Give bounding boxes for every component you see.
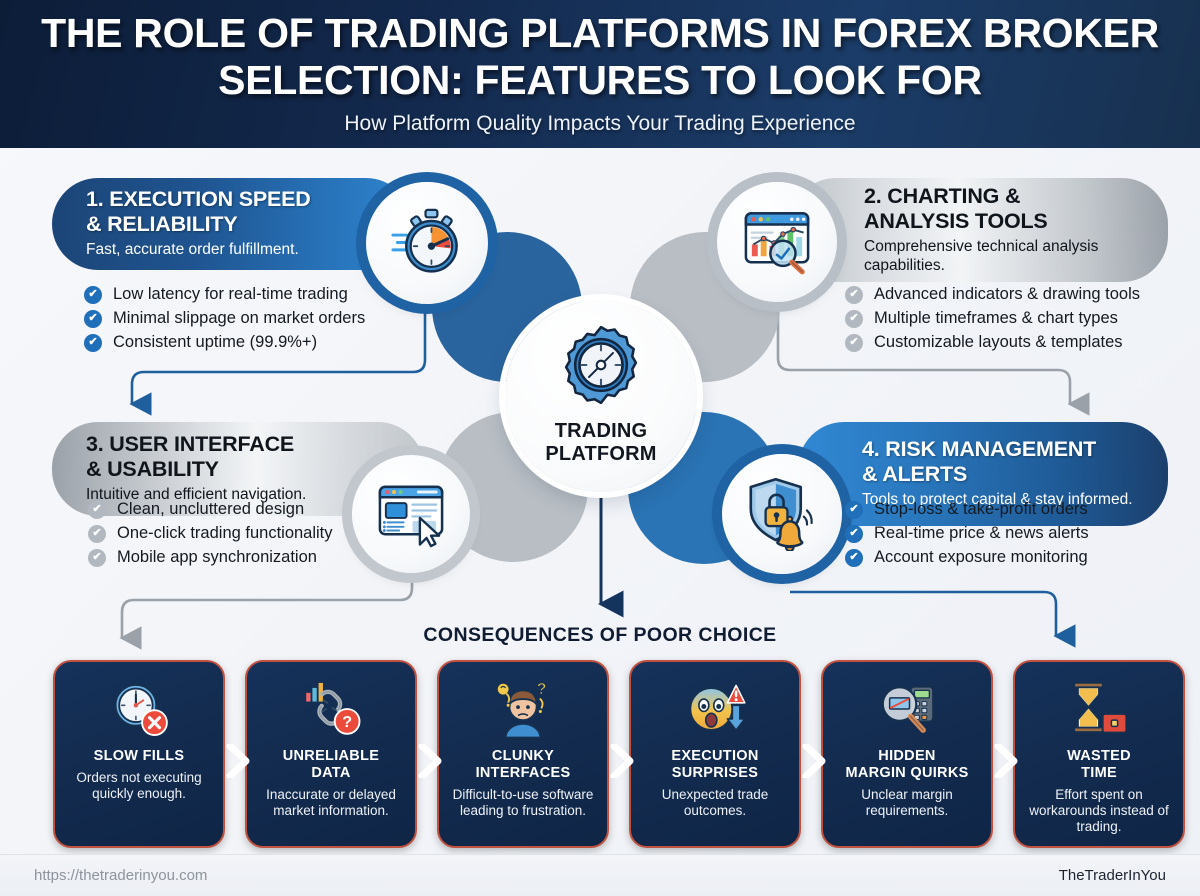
- check-icon: ✔: [84, 310, 102, 328]
- bullet-label: Multiple timeframes & chart types: [874, 309, 1118, 328]
- consequences-row: SLOW FILLS Orders not executing quickly …: [53, 660, 1147, 848]
- consequence-title-line1: HIDDEN: [878, 748, 935, 764]
- bullet-item: ✔ Multiple timeframes & chart types: [845, 309, 1140, 328]
- header-banner: THE ROLE OF TRADING PLATFORMS IN FOREX B…: [0, 0, 1200, 148]
- page-title: THE ROLE OF TRADING PLATFORMS IN FOREX B…: [0, 10, 1200, 104]
- consequence-desc: Unexpected trade outcomes.: [639, 787, 791, 819]
- bullet-label: One-click trading functionality: [117, 524, 333, 543]
- hub-label: TRADING PLATFORM: [545, 420, 656, 466]
- consequence-desc: Unclear margin requirements.: [831, 787, 983, 819]
- page-subtitle: How Platform Quality Impacts Your Tradin…: [0, 112, 1200, 136]
- check-icon: ✔: [88, 525, 106, 543]
- feature-2-title: 2. CHARTING & ANALYSIS TOOLS: [864, 184, 1142, 234]
- consequence-card-3[interactable]: ? CLUNKY INTERFACES Difficult-to-use sof…: [437, 660, 609, 848]
- feature-2-bullets: ✔ Advanced indicators & drawing tools ✔ …: [845, 285, 1140, 357]
- chevron-arrow-2: [418, 744, 444, 778]
- feature-1-icon-circle: [366, 182, 488, 304]
- bullet-label: Clean, uncluttered design: [117, 500, 304, 519]
- bullet-label: Low latency for real-time trading: [113, 285, 348, 304]
- svg-text:?: ?: [537, 680, 547, 698]
- consequence-title: HIDDEN MARGIN QUIRKS: [845, 748, 968, 782]
- bullet-item: ✔ Customizable layouts & templates: [845, 333, 1140, 352]
- consequence-card-5[interactable]: HIDDEN MARGIN QUIRKS Unclear margin requ…: [821, 660, 993, 848]
- chevron-arrow-3: [610, 744, 636, 778]
- feature-3-title-line1: 3. USER INTERFACE: [86, 432, 294, 456]
- feature-card-2[interactable]: 2. CHARTING & ANALYSIS TOOLS Comprehensi…: [790, 178, 1168, 282]
- bullet-label: Minimal slippage on market orders: [113, 309, 365, 328]
- bullet-item: ✔ Minimal slippage on market orders: [84, 309, 365, 328]
- consequence-desc: Orders not executing quickly enough.: [63, 770, 215, 802]
- feature-1-title: 1. EXECUTION SPEED & RELIABILITY: [86, 187, 386, 237]
- feature-4-title: 4. RISK MANAGEMENT & ALERTS: [862, 437, 1142, 487]
- check-icon: ✔: [84, 286, 102, 304]
- bullet-item: ✔ Clean, uncluttered design: [88, 500, 333, 519]
- bullet-item: ✔ Real-time price & news alerts: [845, 524, 1089, 543]
- feature-4-bullets: ✔ Stop-loss & take-profit orders ✔ Real-…: [845, 500, 1089, 572]
- feature-3-bullets: ✔ Clean, uncluttered design ✔ One-click …: [88, 500, 333, 572]
- feature-3-icon-circle: [352, 455, 470, 573]
- consequence-title: UNRELIABLE DATA: [283, 748, 379, 782]
- chevron-arrow-5: [994, 744, 1020, 778]
- consequence-title: WASTED TIME: [1067, 748, 1131, 782]
- consequence-title-line1: CLUNKY: [492, 748, 554, 764]
- bullet-label: Customizable layouts & templates: [874, 333, 1123, 352]
- consequence-title: SLOW FILLS: [94, 748, 185, 765]
- bullet-item: ✔ Account exposure monitoring: [845, 548, 1089, 567]
- feature-4-title-line2: & ALERTS: [862, 462, 967, 486]
- feature-2-subtitle: Comprehensive technical analysis capabil…: [864, 237, 1142, 275]
- footer-url[interactable]: https://thetraderinyou.com: [34, 867, 207, 884]
- browser-cursor-icon: [374, 475, 448, 554]
- bullet-label: Account exposure monitoring: [874, 548, 1088, 567]
- shield-lock-bell-icon: [743, 473, 821, 556]
- check-icon: ✔: [84, 334, 102, 352]
- feature-3-title-line2: & USABILITY: [86, 457, 219, 481]
- consequences-heading: CONSEQUENCES OF POOR CHOICE: [0, 624, 1200, 647]
- check-icon: ✔: [845, 286, 863, 304]
- consequence-card-4[interactable]: EXECUTION SURPRISES Unexpected trade out…: [629, 660, 801, 848]
- feature-2-title-line1: 2. CHARTING &: [864, 184, 1020, 208]
- central-hub[interactable]: TRADING PLATFORM: [505, 300, 697, 492]
- consequence-title-line1: UNRELIABLE: [283, 748, 379, 764]
- bullet-label: Consistent uptime (99.9%+): [113, 333, 317, 352]
- consequence-desc: Effort spent on workarounds instead of t…: [1023, 787, 1175, 835]
- check-icon: ✔: [88, 501, 106, 519]
- chevron-arrow-4: [802, 744, 828, 778]
- consequence-title-line1: EXECUTION: [671, 748, 758, 764]
- shocked-face-warning-icon: [684, 676, 746, 742]
- bullet-label: Real-time price & news alerts: [874, 524, 1089, 543]
- bullet-item: ✔ Advanced indicators & drawing tools: [845, 285, 1140, 304]
- feature-3-title: 3. USER INTERFACE & USABILITY: [86, 432, 398, 482]
- bullet-item: ✔ Stop-loss & take-profit orders: [845, 500, 1089, 519]
- consequence-title-line1: WASTED: [1067, 748, 1131, 764]
- check-icon: ✔: [845, 334, 863, 352]
- feature-4-icon-circle: [722, 454, 842, 574]
- bullet-label: Stop-loss & take-profit orders: [874, 500, 1088, 519]
- svg-text:?: ?: [342, 713, 352, 731]
- bullet-item: ✔ Mobile app synchronization: [88, 548, 333, 567]
- hub-label-line2: PLATFORM: [545, 443, 656, 466]
- bullet-item: ✔ One-click trading functionality: [88, 524, 333, 543]
- bullet-item: ✔ Consistent uptime (99.9%+): [84, 333, 365, 352]
- check-icon: ✔: [88, 549, 106, 567]
- bullet-label: Mobile app synchronization: [117, 548, 317, 567]
- broken-link-question-icon: ?: [300, 676, 362, 742]
- feature-1-subtitle: Fast, accurate order fulfillment.: [86, 240, 386, 259]
- consequence-title-line2: SURPRISES: [672, 765, 759, 781]
- feature-2-title-line2: ANALYSIS TOOLS: [864, 209, 1048, 233]
- chevron-arrow-1: [226, 744, 252, 778]
- consequence-title-line2: DATA: [311, 765, 350, 781]
- hub-label-line1: TRADING: [545, 420, 656, 443]
- consequence-desc: Inaccurate or delayed market information…: [255, 787, 407, 819]
- feature-2-icon-circle: [717, 182, 837, 302]
- feature-1-bullets: ✔ Low latency for real-time trading ✔ Mi…: [84, 285, 365, 357]
- confused-person-icon: ?: [492, 676, 554, 742]
- consequence-desc: Difficult-to-use software leading to fru…: [447, 787, 599, 819]
- stopwatch-icon: [390, 204, 464, 283]
- feature-1-title-line1: 1. EXECUTION SPEED: [86, 187, 311, 211]
- check-icon: ✔: [845, 549, 863, 567]
- feature-4-title-line1: 4. RISK MANAGEMENT: [862, 437, 1096, 461]
- check-icon: ✔: [845, 310, 863, 328]
- bullet-label: Advanced indicators & drawing tools: [874, 285, 1140, 304]
- footer-brand: TheTraderInYou: [1059, 867, 1166, 884]
- compass-gear-icon: [558, 322, 644, 413]
- consequence-title-line2: TIME: [1081, 765, 1117, 781]
- consequence-title-line1: SLOW FILLS: [94, 748, 185, 764]
- consequence-title: EXECUTION SURPRISES: [671, 748, 758, 782]
- chart-magnifier-icon: [740, 203, 814, 282]
- hourglass-toolbox-icon: [1068, 676, 1130, 742]
- consequence-card-6[interactable]: WASTED TIME Effort spent on workarounds …: [1013, 660, 1185, 848]
- infographic-canvas: THE ROLE OF TRADING PLATFORMS IN FOREX B…: [0, 0, 1200, 896]
- consequence-card-1[interactable]: SLOW FILLS Orders not executing quickly …: [53, 660, 225, 848]
- consequence-title-line2: INTERFACES: [476, 765, 571, 781]
- consequence-title-line2: MARGIN QUIRKS: [845, 765, 968, 781]
- footer-bar: https://thetraderinyou.com TheTraderInYo…: [0, 854, 1200, 896]
- bullet-item: ✔ Low latency for real-time trading: [84, 285, 365, 304]
- check-icon: ✔: [845, 525, 863, 543]
- check-icon: ✔: [845, 501, 863, 519]
- consequence-card-2[interactable]: ? UNRELIABLE DATA Inaccurate or delayed …: [245, 660, 417, 848]
- feature-card-1[interactable]: 1. EXECUTION SPEED & RELIABILITY Fast, a…: [52, 178, 412, 270]
- consequence-title: CLUNKY INTERFACES: [476, 748, 571, 782]
- feature-1-title-line2: & RELIABILITY: [86, 212, 237, 236]
- magnifier-calculator-icon: [876, 676, 938, 742]
- clock-error-icon: [108, 676, 170, 742]
